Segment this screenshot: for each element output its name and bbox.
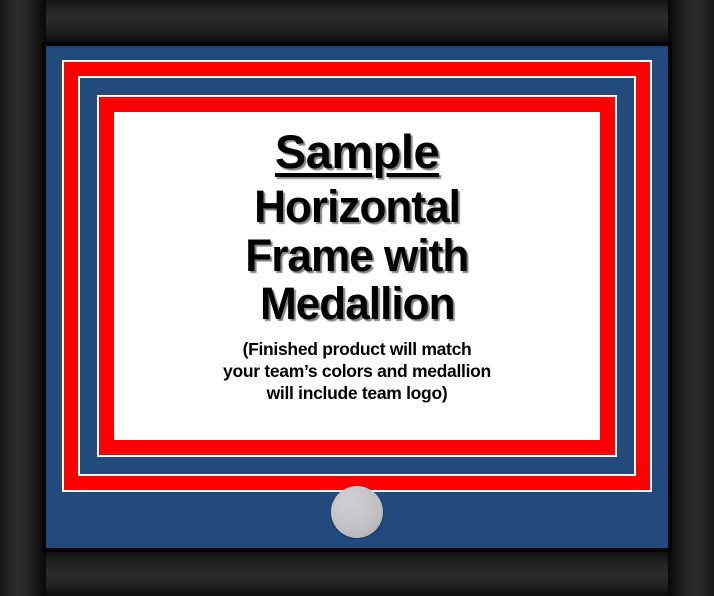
mat-board-blue-outer: Sample Horizontal Frame with Medallion (… <box>46 46 668 548</box>
artwork-panel: Sample Horizontal Frame with Medallion (… <box>114 112 600 440</box>
medallion-disc <box>331 486 383 538</box>
frame-bevel-top <box>0 0 714 46</box>
headline-line-3: Medallion <box>260 280 455 329</box>
frame-bevel-right <box>668 0 714 596</box>
sample-title: Sample <box>275 128 439 175</box>
frame-sample-image: Sample Horizontal Frame with Medallion (… <box>0 0 714 596</box>
headline-line-2: Frame with <box>245 232 468 281</box>
headline-line-1: Horizontal <box>254 183 460 232</box>
fineprint-line-2: your team’s colors and medallion <box>223 360 491 382</box>
fineprint-line-1: (Finished product will match <box>223 338 491 360</box>
fineprint-block: (Finished product will match your team’s… <box>223 338 491 404</box>
fineprint-line-3: will include team logo) <box>223 382 491 404</box>
artwork-text-block: Sample Horizontal Frame with Medallion (… <box>114 112 600 440</box>
frame-bevel-bottom <box>0 548 714 596</box>
frame-bevel-left <box>0 0 46 596</box>
